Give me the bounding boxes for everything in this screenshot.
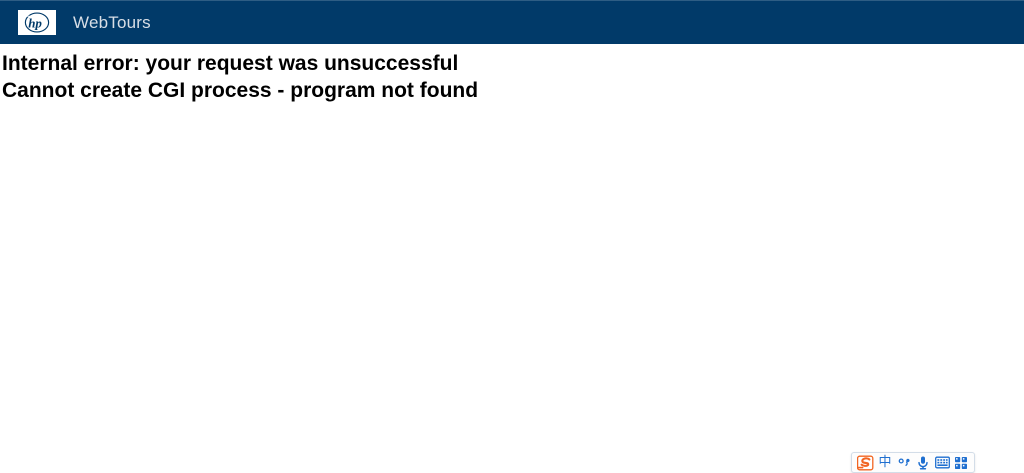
- hp-logo-icon: h p: [18, 10, 56, 35]
- sogou-logo-icon[interactable]: [856, 454, 875, 472]
- voice-input-icon[interactable]: [914, 454, 932, 472]
- svg-text:p: p: [34, 15, 42, 30]
- sogou-ime-toolbar[interactable]: 中: [851, 452, 975, 473]
- toolbox-icon[interactable]: [952, 454, 970, 472]
- brand-title: WebTours: [73, 14, 151, 31]
- site-header: h p WebTours: [0, 0, 1024, 44]
- soft-keyboard-icon[interactable]: [933, 454, 951, 472]
- error-line-secondary: Cannot create CGI process - program not …: [0, 77, 1024, 104]
- page-corner-artifact: [1010, 459, 1024, 473]
- language-mode-label: 中: [878, 456, 891, 469]
- error-message-block: Internal error: your request was unsucce…: [0, 44, 1024, 104]
- punctuation-mode-icon[interactable]: [895, 454, 913, 472]
- svg-text:h: h: [28, 15, 35, 30]
- error-line-primary: Internal error: your request was unsucce…: [0, 44, 1024, 77]
- language-mode-icon[interactable]: 中: [876, 454, 894, 472]
